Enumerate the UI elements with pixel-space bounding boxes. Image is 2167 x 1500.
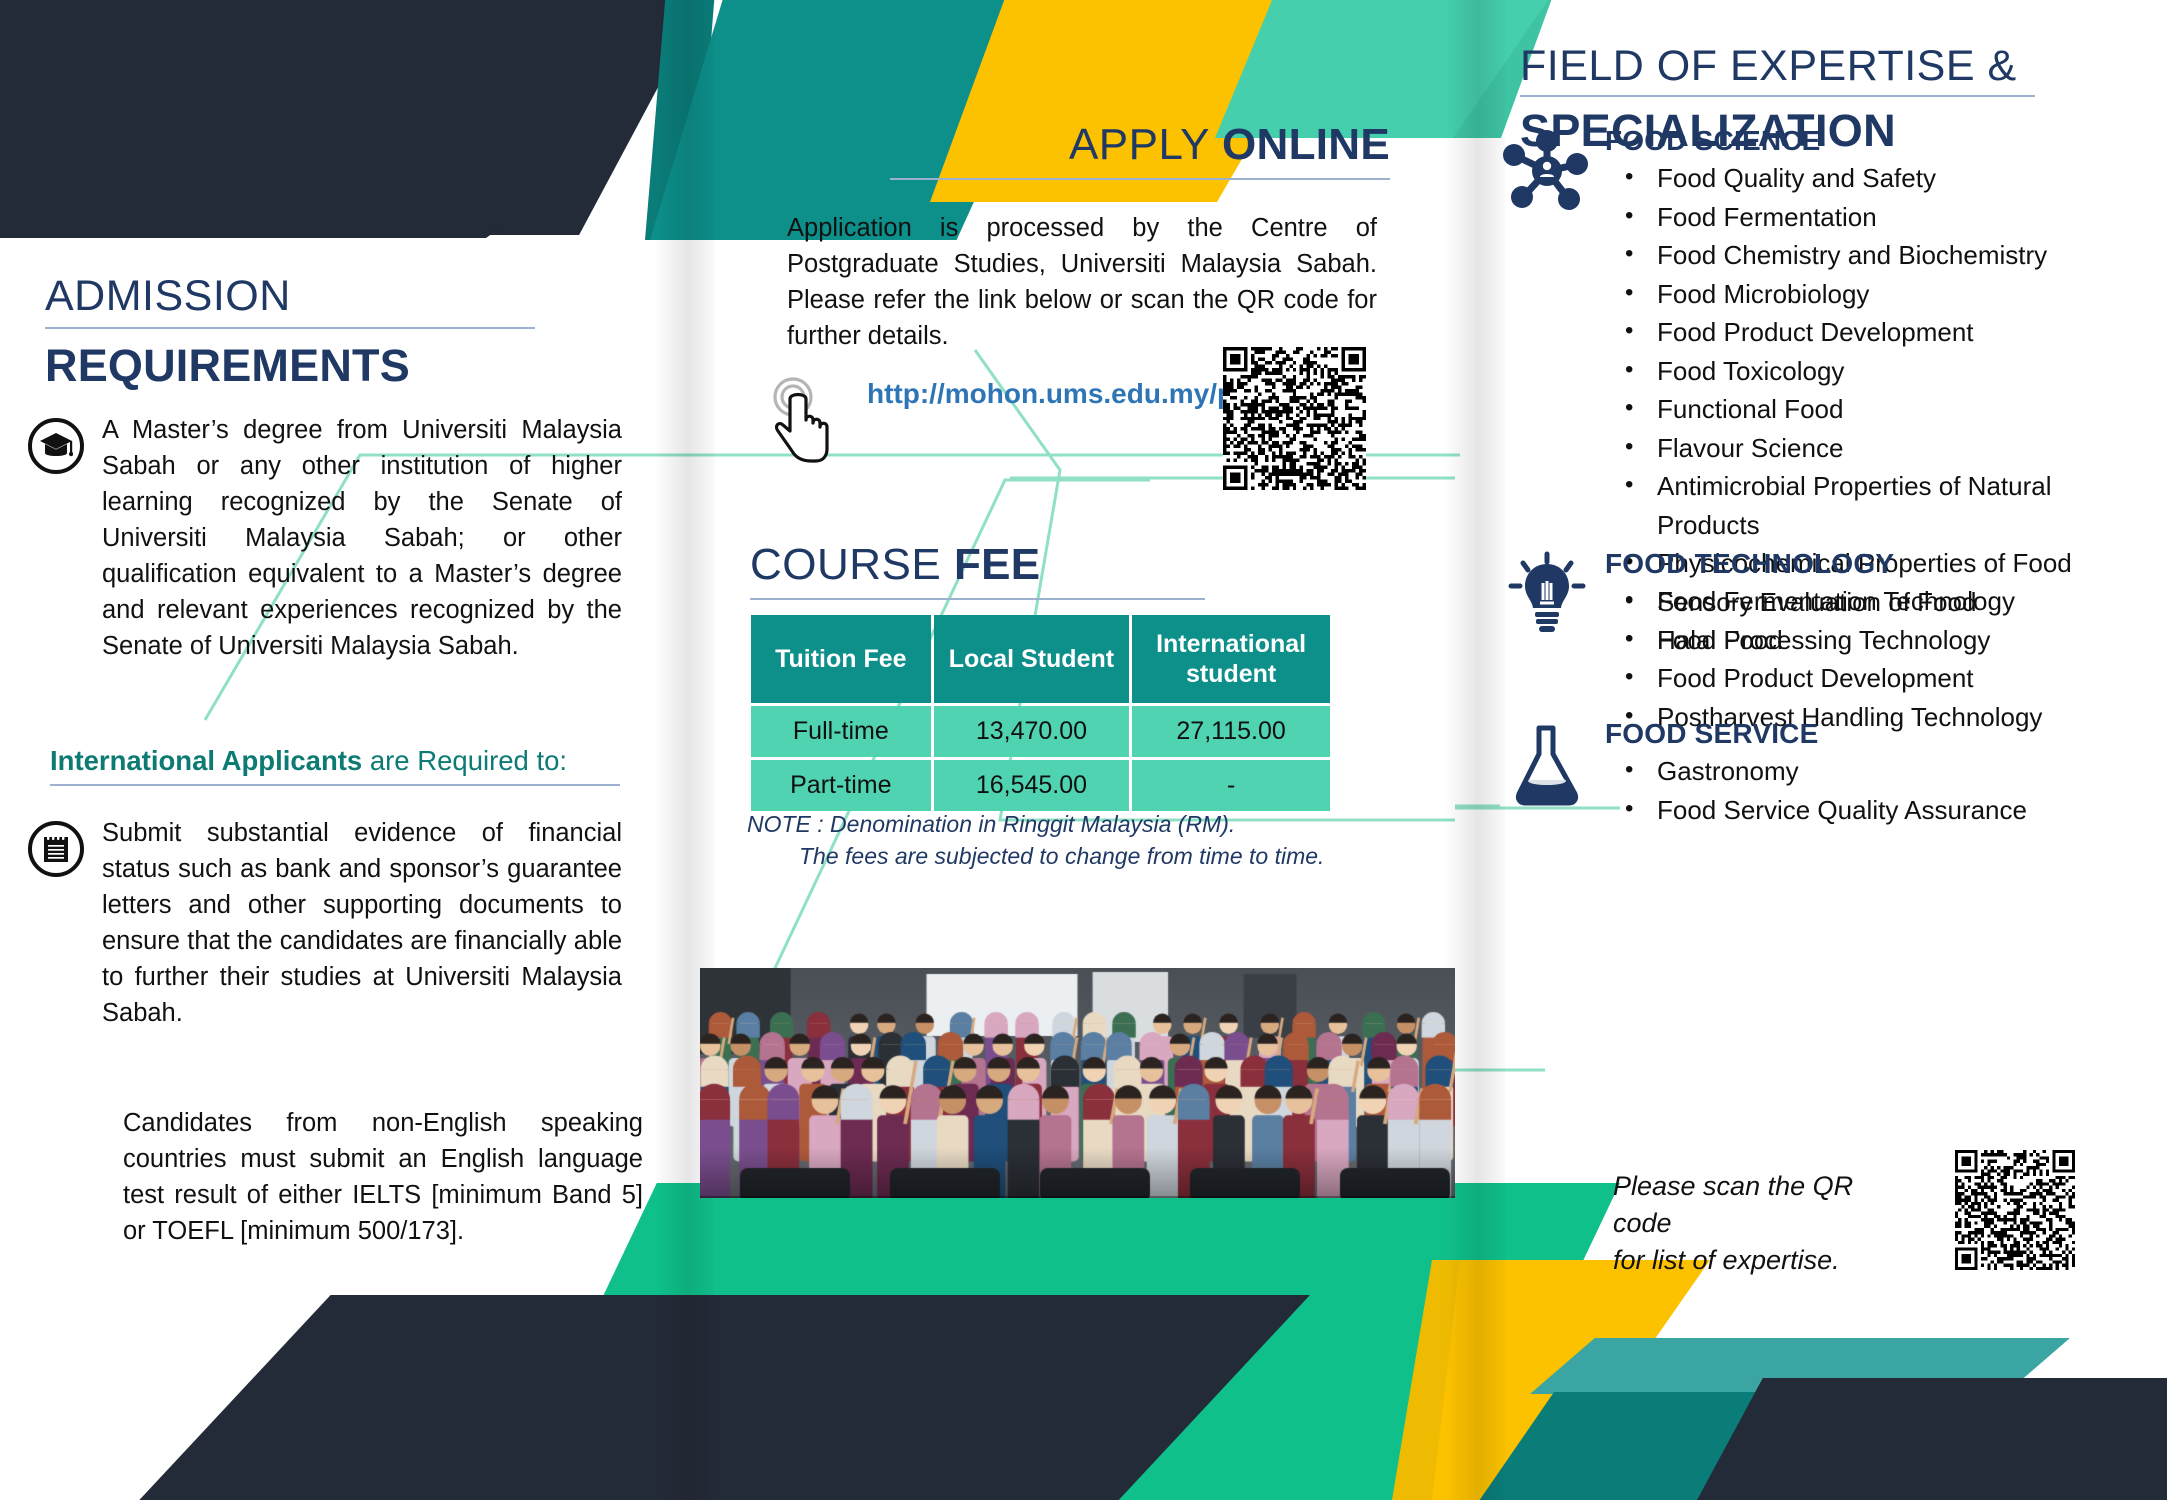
list-item: Flavour Science: [1617, 429, 2165, 468]
list-item: Food Fermentation Technology: [1617, 582, 2165, 621]
admission-heading-rule: [45, 327, 535, 329]
list-item: Food Microbiology: [1617, 275, 2165, 314]
course-fee-note: NOTE : Denomination in Ringgit Malaysia …: [747, 808, 1347, 872]
admission-panel: ADMISSION REQUIREMENTS A Master’s degree…: [0, 0, 655, 1500]
fee-col-header-0: Tuition Fee: [751, 615, 931, 703]
course-fee-heading: COURSE FEE: [750, 540, 1310, 600]
apply-heading-rule: [890, 178, 1390, 180]
apply-heading-bold: ONLINE: [1222, 120, 1390, 169]
apply-online-url[interactable]: http://mohon.ums.edu.my/pasca/: [867, 375, 1267, 413]
fee-cell-0-1: 13,470.00: [934, 706, 1130, 757]
fee-col-header-1: Local Student: [934, 615, 1130, 703]
category-food-service: FOOD SERVICE Gastronomy Food Service Qua…: [1465, 718, 2165, 829]
international-requirement-text-2-wrap: Candidates from non-English speaking cou…: [123, 1105, 643, 1249]
apply-body-text: Application is processed by the Centre o…: [787, 210, 1377, 354]
course-fee-table: Tuition Fee Local Student International …: [748, 612, 1333, 814]
category-food-science-title: FOOD SCIENCE: [1605, 125, 2165, 157]
intl-heading-bold: International Applicants: [50, 745, 362, 776]
apply-panel: APPLY ONLINE Application is processed by…: [655, 0, 1445, 1500]
qr-code-icon: [1955, 1150, 2075, 1270]
table-row: Part-time 16,545.00 -: [751, 760, 1330, 811]
apply-heading-light: APPLY: [1069, 120, 1222, 169]
expertise-qr-note-line-1: Please scan the QR code: [1613, 1168, 1903, 1242]
category-food-service-title: FOOD SERVICE: [1605, 718, 2165, 750]
fee-cell-0-0: Full-time: [751, 706, 931, 757]
fee-heading-bold: FEE: [954, 540, 1040, 589]
admission-heading-line1: ADMISSION: [45, 272, 545, 321]
category-food-technology: FOOD TECHNOLOGY Food Fermentation Techno…: [1465, 548, 2165, 736]
list-item: Food Quality and Safety: [1617, 159, 2165, 198]
international-requirement-text-1: Submit substantial evidence of financial…: [102, 815, 622, 1031]
brochure-canvas: ADMISSION REQUIREMENTS A Master’s degree…: [0, 0, 2167, 1500]
list-item: Food Fermentation: [1617, 198, 2165, 237]
fee-table-header-row: Tuition Fee Local Student International …: [751, 615, 1330, 703]
admission-requirement-block: A Master’s degree from Universiti Malays…: [28, 412, 648, 664]
international-requirement-block: Submit substantial evidence of financial…: [28, 815, 648, 1031]
list-item: Food Chemistry and Biochemistry: [1617, 236, 2165, 275]
qr-code-icon: [1223, 347, 1366, 490]
field-heading-rule: [1520, 95, 2035, 97]
expertise-panel: FIELD OF EXPERTISE & SPECIALIZATION: [1445, 0, 2167, 1500]
flask-icon: [1503, 720, 1591, 808]
expertise-qr-note: Please scan the QR code for list of expe…: [1613, 1168, 1903, 1279]
list-item: Functional Food: [1617, 390, 2165, 429]
fee-cell-1-2: -: [1132, 760, 1330, 811]
list-item: Food Product Development: [1617, 313, 2165, 352]
fee-note-line-1: NOTE : Denomination in Ringgit Malaysia …: [747, 811, 1235, 837]
apply-online-heading: APPLY ONLINE: [845, 120, 1390, 180]
list-item: Antimicrobial Properties of Natural Prod…: [1617, 467, 2127, 544]
graduation-cap-icon: [28, 418, 84, 474]
fee-heading-light: COURSE: [750, 540, 954, 589]
admission-heading-line2: REQUIREMENTS: [45, 340, 410, 392]
international-applicants-heading: International Applicants are Required to…: [50, 745, 630, 786]
intl-heading-rule: [50, 784, 620, 786]
category-food-technology-title: FOOD TECHNOLOGY: [1605, 548, 2165, 580]
expertise-qr-note-line-2: for list of expertise.: [1613, 1242, 1903, 1279]
apply-link-row[interactable]: http://mohon.ums.edu.my/pasca/: [770, 375, 1250, 476]
fee-cell-0-2: 27,115.00: [1132, 706, 1330, 757]
field-heading-line1: FIELD OF EXPERTISE &: [1520, 42, 2140, 91]
molecule-network-icon: [1503, 127, 1591, 215]
photo-shadow: [700, 1196, 1455, 1198]
student-group-photo: [700, 968, 1455, 1198]
table-row: Full-time 13,470.00 27,115.00: [751, 706, 1330, 757]
fee-col-header-2: International student: [1132, 615, 1330, 703]
list-item: Food Service Quality Assurance: [1617, 791, 2165, 830]
document-notepad-icon: [28, 821, 84, 877]
intl-heading-regular: are Required to:: [362, 745, 567, 776]
lightbulb-icon: [1503, 550, 1591, 638]
fee-heading-rule: [750, 598, 1205, 600]
fee-cell-1-1: 16,545.00: [934, 760, 1130, 811]
list-item: Food Product Development: [1617, 659, 2165, 698]
list-item: Gastronomy: [1617, 752, 2165, 791]
list-item: Food Processing Technology: [1617, 621, 2165, 660]
admission-requirement-text: A Master’s degree from Universiti Malays…: [102, 412, 622, 664]
fee-cell-1-0: Part-time: [751, 760, 931, 811]
category-food-service-list: Gastronomy Food Service Quality Assuranc…: [1617, 752, 2165, 829]
international-requirement-text-2: Candidates from non-English speaking cou…: [123, 1105, 643, 1249]
fee-note-line-2: The fees are subjected to change from ti…: [747, 840, 1347, 872]
admission-heading: ADMISSION: [45, 272, 545, 329]
hand-pointer-icon: [770, 375, 832, 476]
list-item: Food Toxicology: [1617, 352, 2165, 391]
student-group-photo-canvas: [700, 968, 1455, 1198]
category-food-technology-list: Food Fermentation Technology Food Proces…: [1617, 582, 2165, 736]
